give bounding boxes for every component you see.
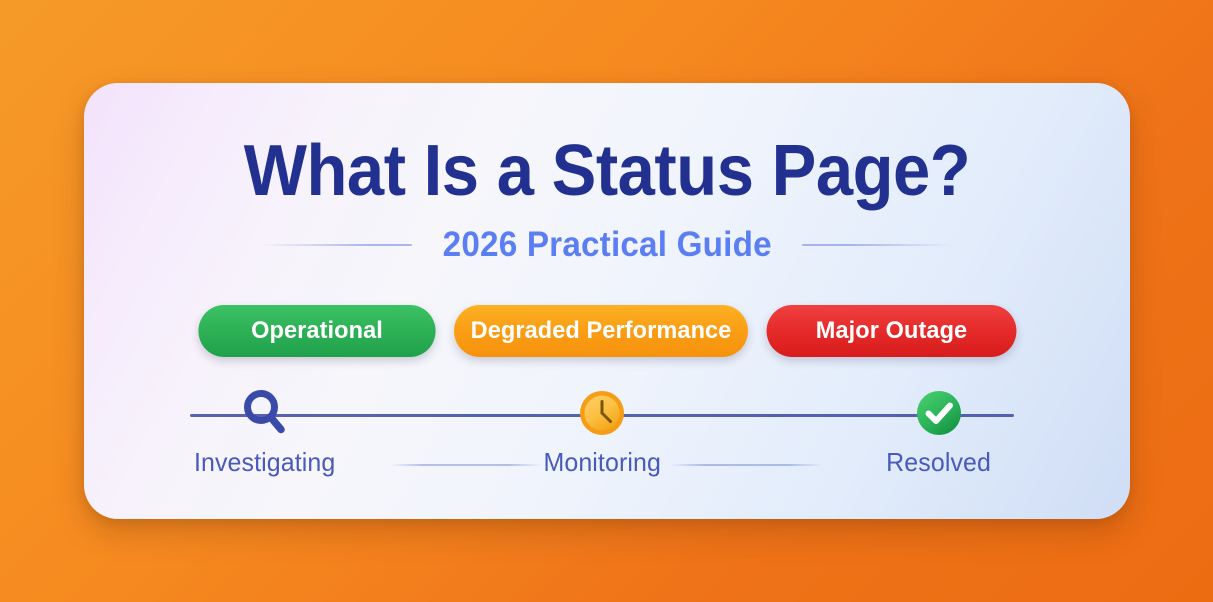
clock-icon xyxy=(570,381,634,445)
status-badge-operational[interactable]: Operational xyxy=(198,305,435,357)
status-badge-degraded-performance[interactable]: Degraded Performance xyxy=(454,305,748,357)
timeline-steps: Investigating xyxy=(190,383,1014,483)
status-badge-major-outage[interactable]: Major Outage xyxy=(766,305,1016,357)
timeline-step-label-resolved: Resolved xyxy=(887,447,992,478)
timeline-step-monitoring[interactable]: Monitoring xyxy=(527,383,677,483)
incident-timeline: Investigating xyxy=(190,383,1014,483)
magnifier-icon xyxy=(233,381,297,445)
subtitle-rule-left xyxy=(262,244,412,246)
poster-canvas: What Is a Status Page? 2026 Practical Gu… xyxy=(0,0,1213,602)
check-circle-icon xyxy=(907,381,971,445)
timeline-step-label-monitoring: Monitoring xyxy=(543,447,661,478)
page-title: What Is a Status Page? xyxy=(121,135,1094,207)
timeline-step-investigating[interactable]: Investigating xyxy=(190,383,340,483)
page-subtitle: 2026 Practical Guide xyxy=(442,225,771,265)
subtitle-row: 2026 Practical Guide xyxy=(84,225,1130,265)
status-badge-group: Operational Degraded Performance Major O… xyxy=(84,305,1130,357)
subtitle-rule-right xyxy=(802,244,952,246)
timeline-step-resolved[interactable]: Resolved xyxy=(864,383,1014,483)
content-card: What Is a Status Page? 2026 Practical Gu… xyxy=(84,83,1130,519)
timeline-step-label-investigating: Investigating xyxy=(194,447,335,478)
